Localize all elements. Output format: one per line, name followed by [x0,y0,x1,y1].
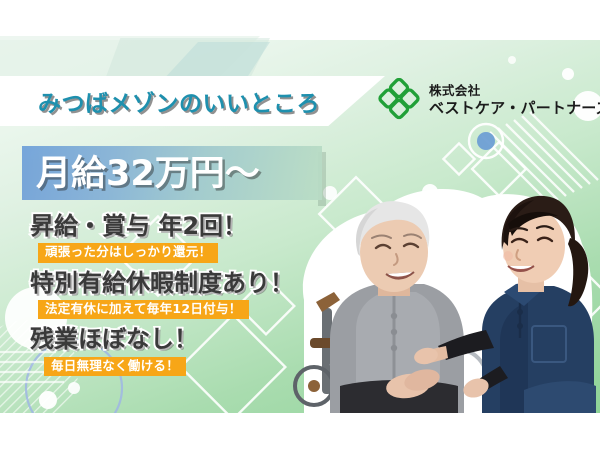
caregiver-photo [286,180,600,413]
background-top-white-strip [0,0,600,40]
benefit-item: 昇給・賞与 年2回！ 頑張った分はしっかり還元！ [30,212,330,263]
benefit-item: 残業ほぼなし！ 毎日無理なく働ける！ [30,325,330,376]
benefit-badge: 法定有休に加えて毎年12日付与！ [38,300,249,319]
recruitment-ad-banner: みつばメゾンのいいところ 株式会社 ベストケア・パートナーズ 月給32万円〜 昇… [0,0,600,450]
headline-band: みつばメゾンのいいところ [0,76,385,126]
benefit-badge: 頑張った分はしっかり還元！ [38,243,218,262]
benefits-list: 昇給・賞与 年2回！ 頑張った分はしっかり還元！ 特別有給休暇制度あり！ 法定有… [30,212,330,382]
benefit-heading: 残業ほぼなし！ [30,325,330,353]
logo-company-name: ベストケア・パートナーズ [429,99,600,117]
company-logo: 株式会社 ベストケア・パートナーズ [378,78,600,120]
page-title: みつばメゾンのいいところ [38,84,320,118]
benefit-badge: 毎日無理なく働ける！ [44,357,186,376]
four-diamond-logo-icon [378,78,420,120]
benefit-heading: 特別有給休暇制度あり！ [30,269,330,297]
salary-amount: 月給32万円〜 [36,145,260,196]
background-bottom-white-strip [0,413,600,450]
benefit-heading: 昇給・賞与 年2回！ [30,212,330,240]
benefit-item: 特別有給休暇制度あり！ 法定有休に加えて毎年12日付与！ [30,269,330,320]
logo-corporate-prefix: 株式会社 [429,83,481,98]
